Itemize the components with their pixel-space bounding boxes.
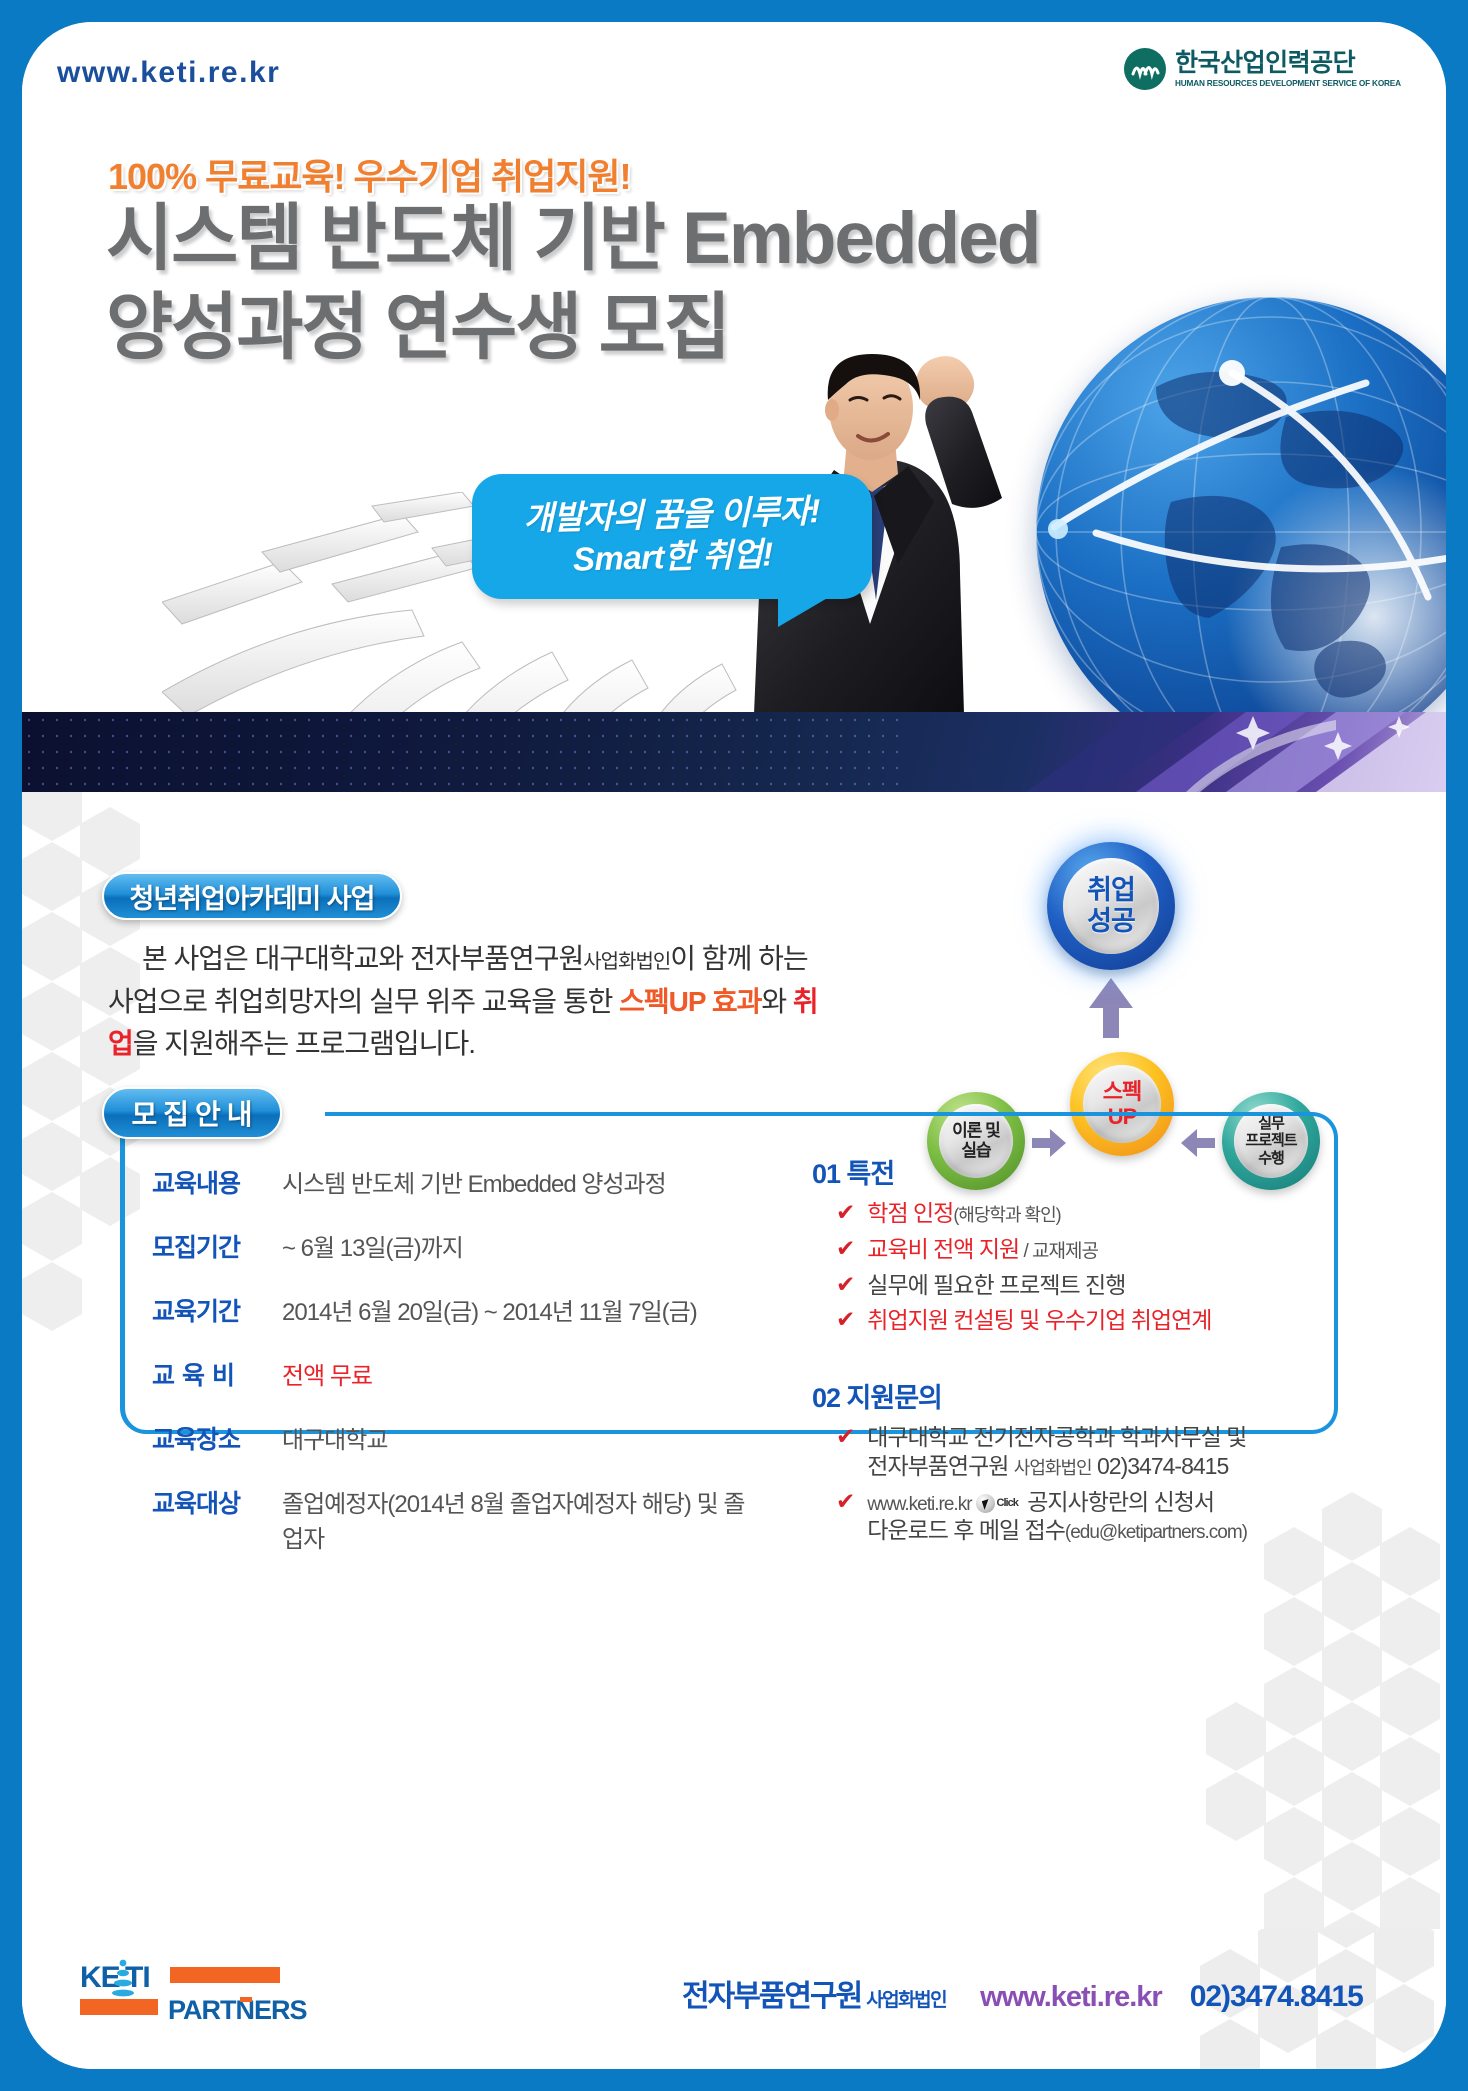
check-icon: ✔ bbox=[836, 1235, 855, 1261]
row-key: 교육내용 bbox=[152, 1164, 282, 1200]
hero-kicker: 100% 무료교육! 우수기업 취업지원! bbox=[108, 148, 631, 200]
speech-bubble: 개발자의 꿈을 이루자! Smart한 취업! bbox=[472, 474, 872, 599]
page-title: 시스템 반도체 기반 Embedded 양성과정 연수생 모집 bbox=[106, 194, 1039, 372]
svg-text:PARTNERS: PARTNERS bbox=[168, 1995, 307, 2025]
row-value: 전액 무료 bbox=[282, 1356, 372, 1391]
list-item: ✔ 학점 인정(해당학과 확인) bbox=[836, 1199, 1332, 1228]
node-success-label: 취업 성공 bbox=[1087, 875, 1135, 937]
row-value: 시스템 반도체 기반 Embedded 양성과정 bbox=[282, 1164, 666, 1199]
intro-tail: 을 지원해주는 프로그램입니다. bbox=[133, 1028, 475, 1059]
hrd-korea-logo: 한국산업인력공단 HUMAN RESOURCES DEVELOPMENT SER… bbox=[1124, 48, 1408, 90]
poster-card: www.keti.re.kr 한국산업인력공단 HUMAN RESOURCES … bbox=[22, 22, 1446, 2069]
check-icon: ✔ bbox=[836, 1423, 855, 1449]
academy-pill-label: 청년취업아카데미 사업 bbox=[102, 872, 402, 920]
intro-and: 와 bbox=[761, 986, 793, 1017]
click-cursor-icon: Click bbox=[976, 1494, 1018, 1513]
hrd-logo-korean: 한국산업인력공단 bbox=[1175, 51, 1408, 76]
apply-url[interactable]: www.keti.re.kr bbox=[867, 1494, 971, 1515]
row-value: 대구대학교 bbox=[282, 1420, 387, 1455]
keti-partners-logo: KE TI PARTNERS bbox=[80, 1957, 310, 2031]
benefit-text: 취업지원 컨설팅 및 우수기업 취업연계 bbox=[867, 1306, 1211, 1335]
row-value: 졸업예정자(2014년 8월 졸업자예정자 해당) 및 졸업자 bbox=[282, 1484, 752, 1554]
table-row: 모집기간 ~ 6월 13일(금)까지 bbox=[152, 1228, 752, 1264]
banner-abstract-graphic bbox=[886, 712, 1446, 792]
globe-graphic bbox=[1036, 297, 1446, 712]
svg-text:TI: TI bbox=[125, 1961, 150, 1994]
inquiry-apply: www.keti.re.krClick 공지사항란의 신청서 다운로드 후 메일… bbox=[867, 1488, 1247, 1546]
table-row: 교육장소 대구대학교 bbox=[152, 1420, 752, 1456]
check-icon: ✔ bbox=[836, 1488, 855, 1514]
inquiry-heading: 02 지원문의 bbox=[812, 1376, 1332, 1415]
benefits-and-inquiry: 01 특전 ✔ 학점 인정(해당학과 확인) ✔ 교육비 전액 지원 / 교재제… bbox=[812, 1152, 1332, 1552]
row-key: 교육대상 bbox=[152, 1484, 282, 1520]
check-icon: ✔ bbox=[836, 1306, 855, 1332]
site-url[interactable]: www.keti.re.kr bbox=[57, 56, 280, 90]
list-item: ✔ 교육비 전액 지원 / 교재제공 bbox=[836, 1235, 1332, 1264]
row-key: 교육기간 bbox=[152, 1292, 282, 1328]
banner-dot-pattern bbox=[22, 712, 905, 792]
svg-text:KE: KE bbox=[80, 1961, 120, 1994]
table-row: 교육비 전액 무료 bbox=[152, 1356, 752, 1392]
row-value: 2014년 6월 20일(금) ~ 2014년 11월 7일(금) bbox=[282, 1292, 697, 1327]
footer-section: KE TI PARTNERS 전자부품연구원 사업화법인 www.keti.re… bbox=[22, 1929, 1446, 2069]
list-item: ✔ 실무에 필요한 프로젝트 진행 bbox=[836, 1271, 1332, 1300]
check-icon: ✔ bbox=[836, 1199, 855, 1225]
table-row: 교육대상 졸업예정자(2014년 8월 졸업자예정자 해당) 및 졸업자 bbox=[152, 1484, 752, 1554]
benefit-text: 실무에 필요한 프로젝트 진행 bbox=[867, 1271, 1125, 1300]
benefit-text: 교육비 전액 지원 / 교재제공 bbox=[867, 1235, 1098, 1264]
tech-banner bbox=[22, 712, 1446, 792]
content-section: 청년취업아카데미 사업 본 사업은 대구대학교와 전자부품연구원사업화법인이 함… bbox=[22, 792, 1446, 2069]
table-row: 교육내용 시스템 반도체 기반 Embedded 양성과정 bbox=[152, 1164, 752, 1200]
benefit-text: 학점 인정(해당학과 확인) bbox=[867, 1199, 1060, 1228]
footer-org: 전자부품연구원 bbox=[682, 1971, 861, 2015]
check-icon: ✔ bbox=[836, 1271, 855, 1297]
footer-tel: 02)3474.8415 bbox=[1190, 1980, 1363, 2014]
list-item: ✔ www.keti.re.krClick 공지사항란의 신청서 다운로드 후 … bbox=[836, 1488, 1332, 1546]
footer-org-sub: 사업화법인 bbox=[866, 1985, 946, 2012]
intro-small: 사업화법인 bbox=[583, 951, 670, 973]
diagram-node-success: 취업 성공 bbox=[1047, 842, 1175, 970]
hero-section: www.keti.re.kr 한국산업인력공단 HUMAN RESOURCES … bbox=[22, 22, 1446, 712]
wave-mark-icon bbox=[1124, 48, 1166, 90]
list-item: ✔ 대구대학교 전기전자공학과 학과사무실 및 전자부품연구원 사업화법인 02… bbox=[836, 1423, 1332, 1481]
table-row: 교육기간 2014년 6월 20일(금) ~ 2014년 11월 7일(금) bbox=[152, 1292, 752, 1328]
recruit-info-list: 교육내용 시스템 반도체 기반 Embedded 양성과정 모집기간 ~ 6월 … bbox=[152, 1164, 752, 1582]
inquiry-contact: 대구대학교 전기전자공학과 학과사무실 및 전자부품연구원 사업화법인 02)3… bbox=[867, 1423, 1246, 1481]
footer-url[interactable]: www.keti.re.kr bbox=[980, 1981, 1162, 2014]
row-key: 모집기간 bbox=[152, 1228, 282, 1264]
row-key: 교육장소 bbox=[152, 1420, 282, 1456]
intro-lead: 본 사업은 대구대학교와 전자부품연구원 bbox=[142, 943, 583, 974]
hrd-logo-english: HUMAN RESOURCES DEVELOPMENT SERVICE OF K… bbox=[1175, 79, 1401, 88]
row-value: ~ 6월 13일(금)까지 bbox=[282, 1228, 463, 1263]
footer-contact: 전자부품연구원 사업화법인 www.keti.re.kr 02)3474.841… bbox=[682, 1971, 1363, 2015]
academy-intro-text: 본 사업은 대구대학교와 전자부품연구원사업화법인이 함께 하는 사업으로 취업… bbox=[108, 938, 838, 1066]
recruit-pill-label: 모집안내 bbox=[102, 1087, 282, 1139]
list-item: ✔ 취업지원 컨설팅 및 우수기업 취업연계 bbox=[836, 1306, 1332, 1335]
speech-bubble-text: 개발자의 꿈을 이루자! Smart한 취업! bbox=[523, 490, 822, 582]
row-key: 교육비 bbox=[152, 1356, 282, 1392]
benefits-heading: 01 특전 bbox=[812, 1152, 1332, 1191]
intro-spec-highlight: 스펙UP 효과 bbox=[619, 986, 761, 1017]
